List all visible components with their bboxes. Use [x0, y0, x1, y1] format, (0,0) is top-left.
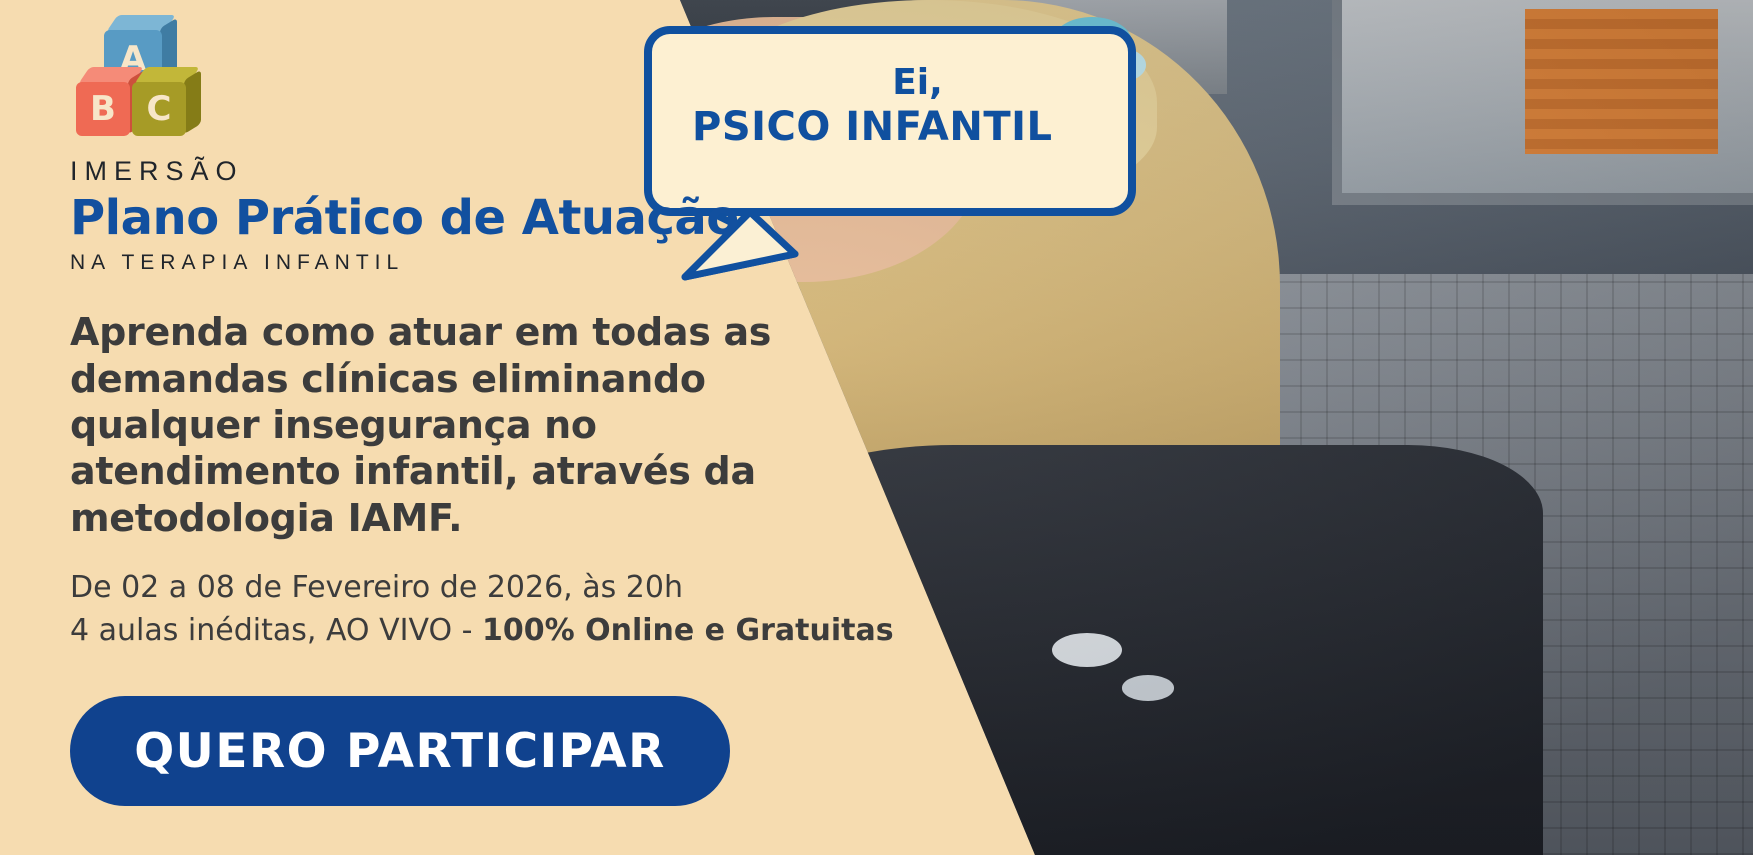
abc-blocks-logo: A B C [70, 30, 200, 140]
quero-participar-button[interactable]: QUERO PARTICIPAR [70, 696, 730, 806]
content-column: A B C IMERSÃO Plano Prático de Atuação N… [70, 30, 950, 806]
block-c-icon: C [132, 82, 186, 136]
promo-banner: Ei, PSICO INFANTIL A B C IMERSÃO Plano P… [0, 0, 1753, 855]
brand-kicker: IMERSÃO [70, 156, 950, 187]
page-title: Plano Prático de Atuação [70, 193, 950, 243]
schedule-block: De 02 a 08 de Fevereiro de 2026, às 20h … [70, 567, 950, 652]
headline-text: Aprenda como atuar em todas as demandas … [70, 309, 830, 541]
schedule-line-2-bold: 100% Online e Gratuitas [482, 613, 894, 648]
schedule-line-2: 4 aulas inéditas, AO VIVO - 100% Online … [70, 610, 950, 653]
schedule-line-1: De 02 a 08 de Fevereiro de 2026, às 20h [70, 567, 950, 610]
block-c-letter: C [132, 82, 186, 136]
block-b-letter: B [76, 82, 130, 136]
schedule-line-2-prefix: 4 aulas inéditas, AO VIVO - [70, 613, 482, 648]
block-b-icon: B [76, 82, 130, 136]
brand-subkicker: NA TERAPIA INFANTIL [70, 251, 950, 275]
